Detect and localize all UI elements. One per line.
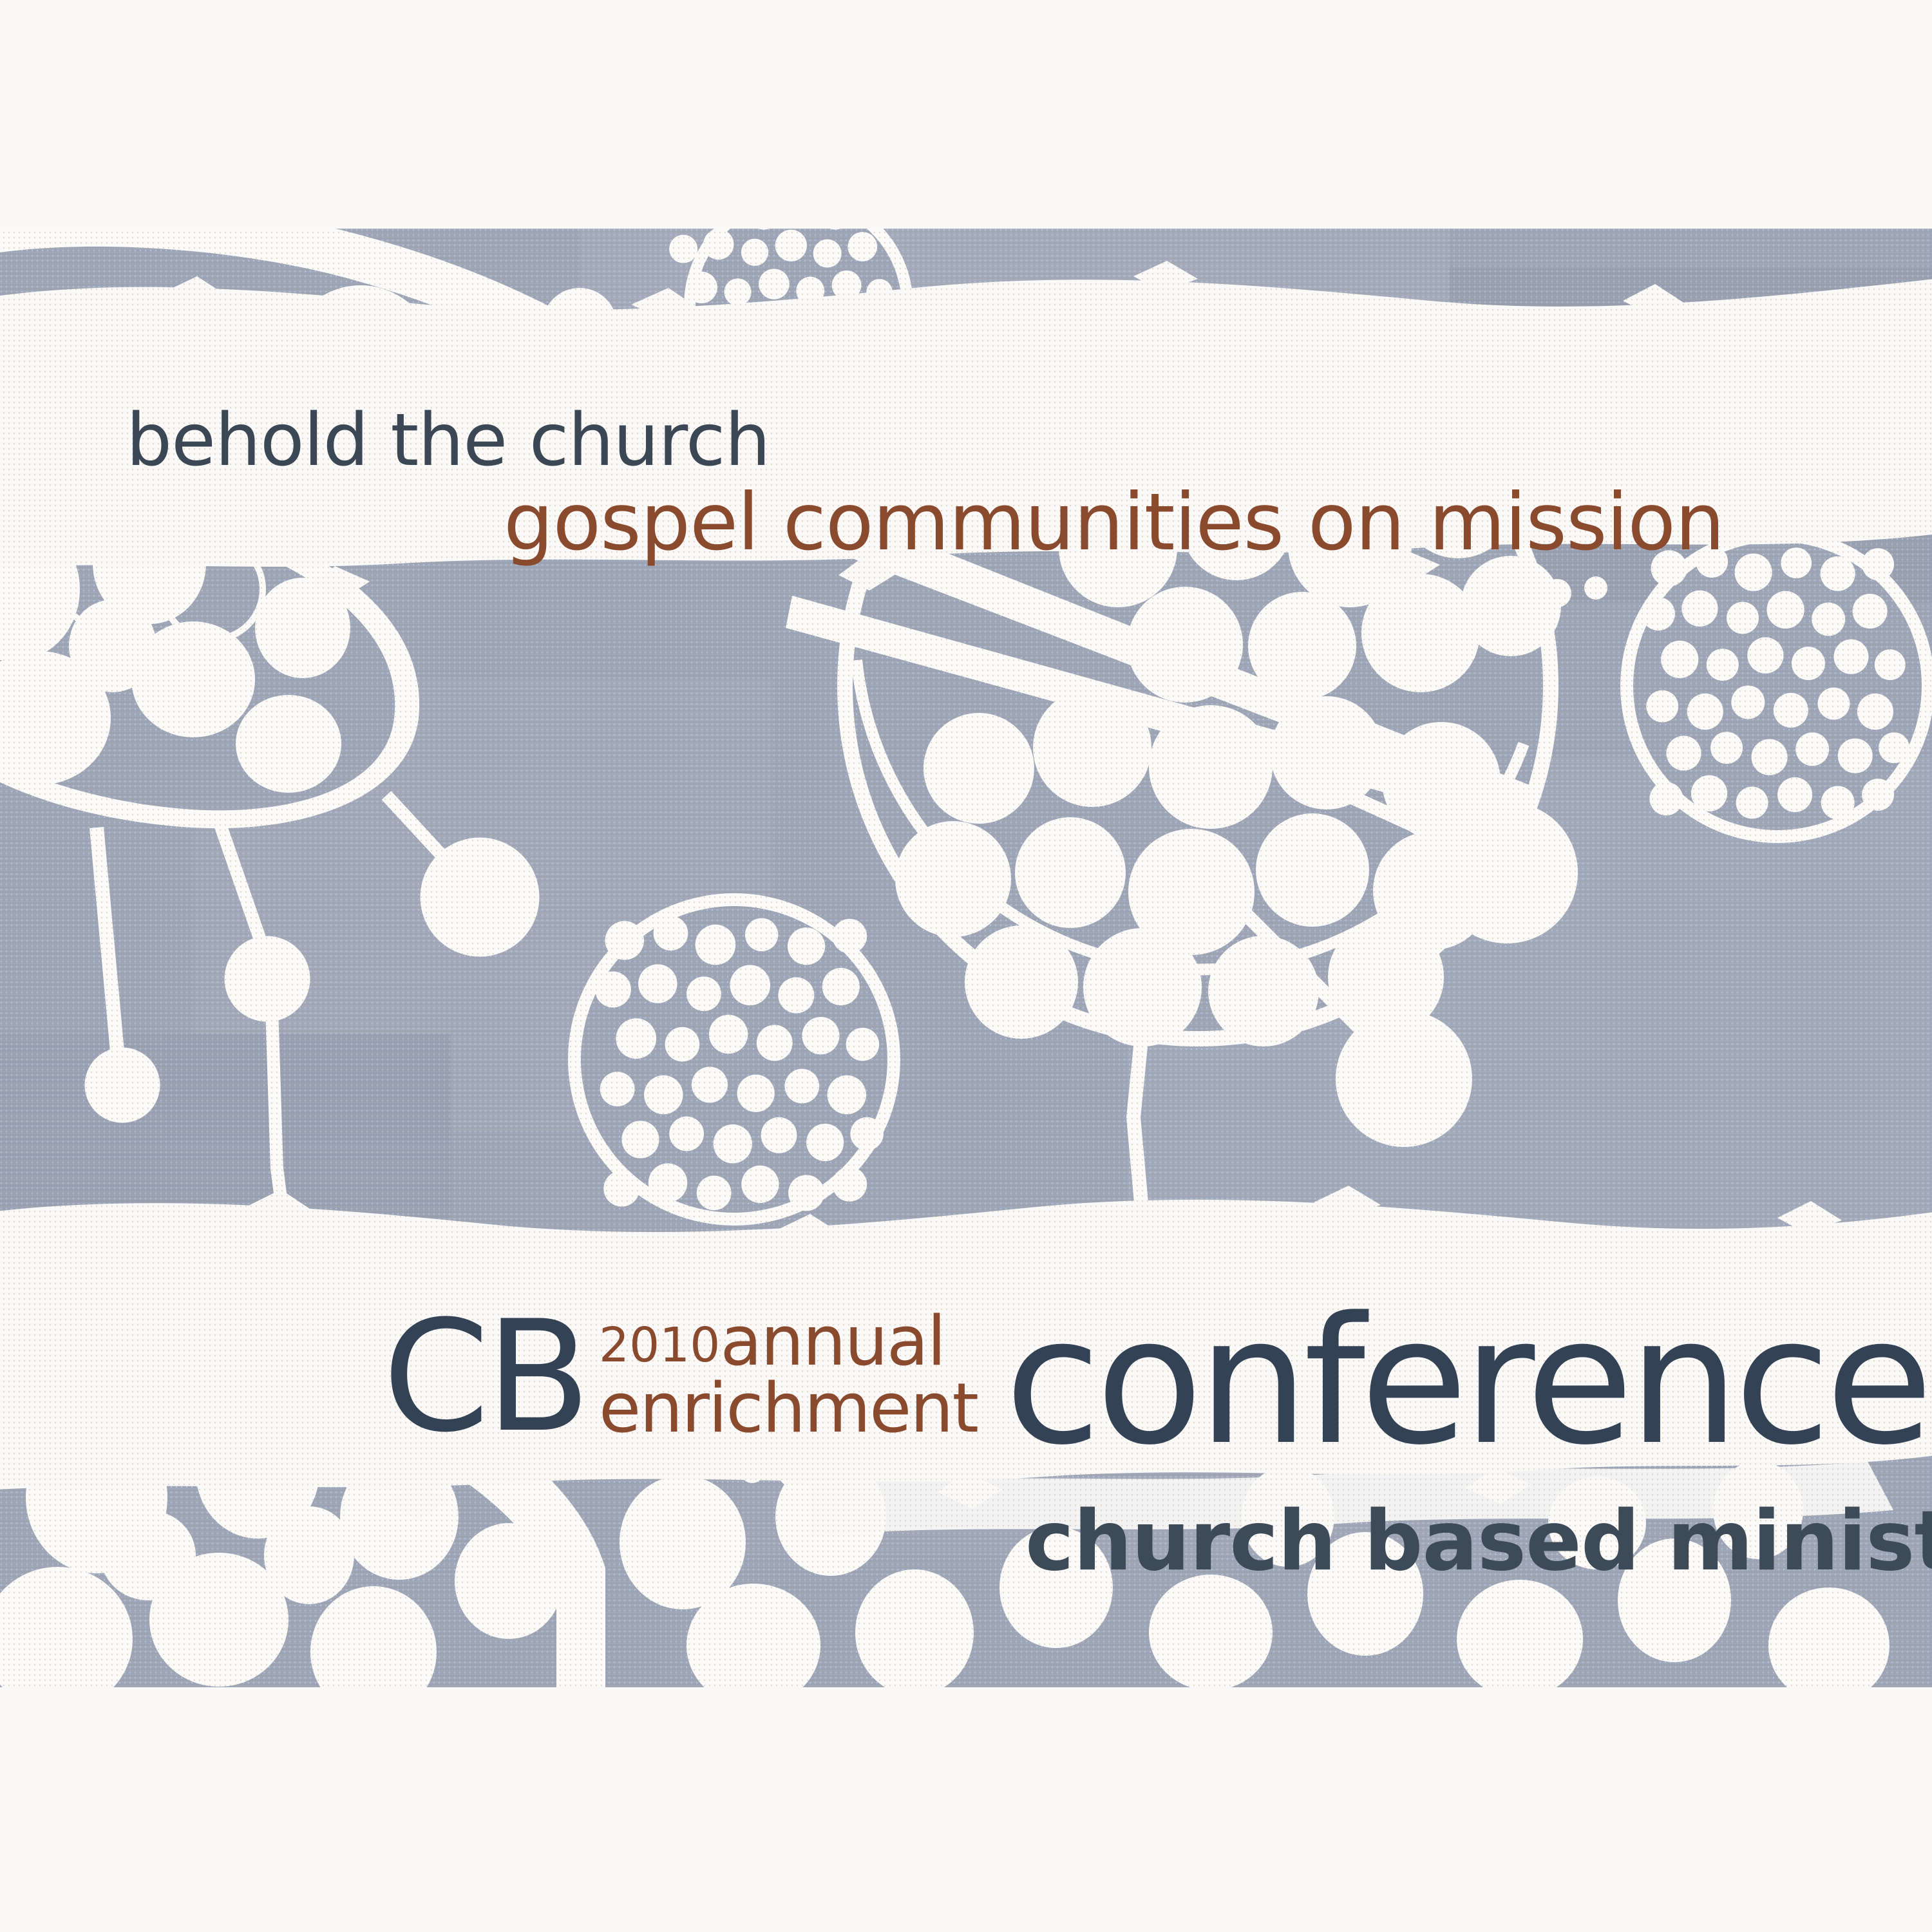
tagline-line-1: behold the church <box>126 404 770 477</box>
tagline-line-2: gospel communities on mission <box>504 483 1724 562</box>
year-label: 2010 <box>599 1318 720 1373</box>
year-annual-line: 2010annual <box>599 1309 978 1374</box>
organization-name: church based ministries <box>1025 1501 1932 1583</box>
bubble-cluster-right <box>1620 529 1932 843</box>
conference-wordmark: conference <box>1005 1294 1928 1470</box>
annual-enrichment-stack: 2010annual enrichment <box>599 1309 978 1441</box>
cb-logotype: CB <box>383 1301 587 1454</box>
bubble-cluster-lower-mid <box>568 893 900 1226</box>
conference-poster: behold the church gospel communities on … <box>0 0 1932 1932</box>
enrichment-label: enrichment <box>599 1376 978 1441</box>
